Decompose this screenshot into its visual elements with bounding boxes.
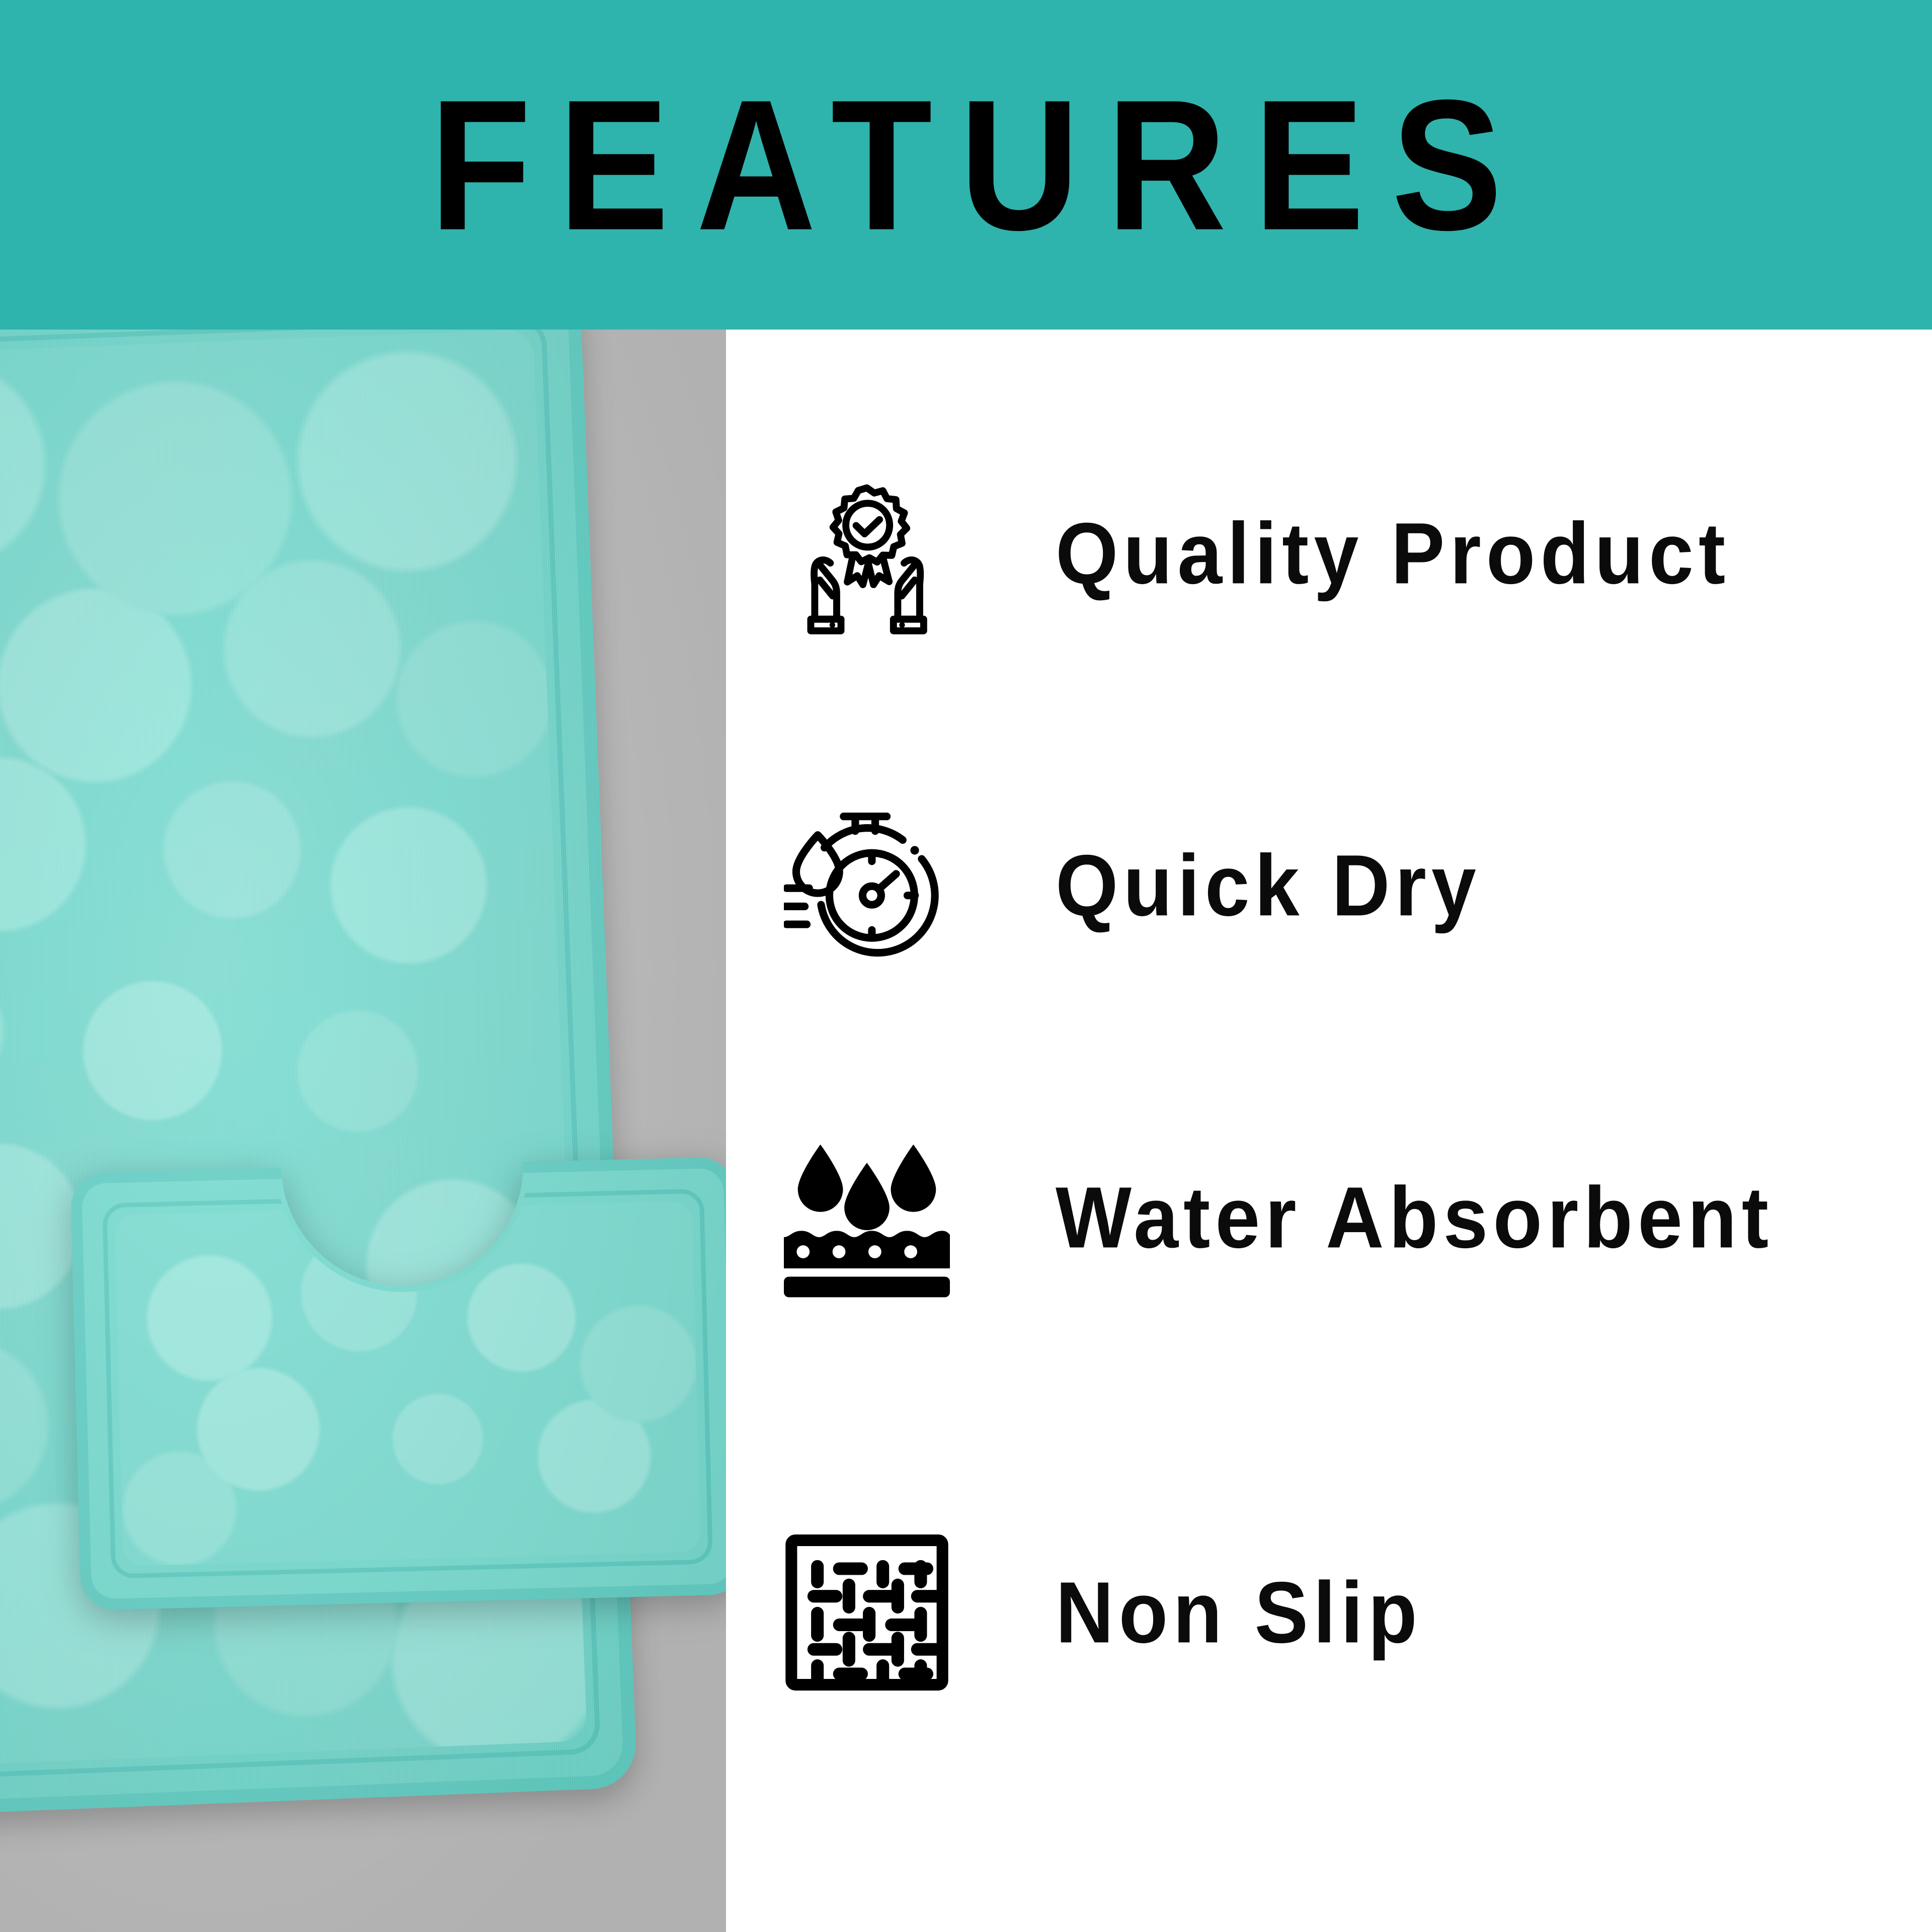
- feature-label: Quality Product: [1056, 510, 1730, 597]
- feature-row: Quick Dry: [726, 770, 1932, 1001]
- feature-infographic: FEATURES: [0, 0, 1932, 1932]
- non-slip-grid-weave-icon: [776, 1522, 957, 1703]
- water-droplets-absorbent-layer-icon: [776, 1127, 957, 1308]
- feature-row: Quality Product: [726, 438, 1932, 669]
- feature-label: Quick Dry: [1056, 842, 1481, 929]
- page-title: FEATURES: [403, 72, 1530, 258]
- feature-label: Non Slip: [1056, 1569, 1422, 1656]
- feature-row: Water Absorbent: [726, 1102, 1932, 1333]
- quality-badge-in-hands-icon: [776, 463, 957, 644]
- header-banner: FEATURES: [0, 0, 1932, 330]
- feature-label: Water Absorbent: [1056, 1174, 1774, 1261]
- stopwatch-water-drop-icon: [776, 795, 957, 976]
- feature-row: Non Slip: [726, 1497, 1932, 1728]
- photo-vignette: [0, 330, 726, 1932]
- product-photo: [0, 330, 726, 1932]
- feature-list: Quality Product: [726, 330, 1932, 1932]
